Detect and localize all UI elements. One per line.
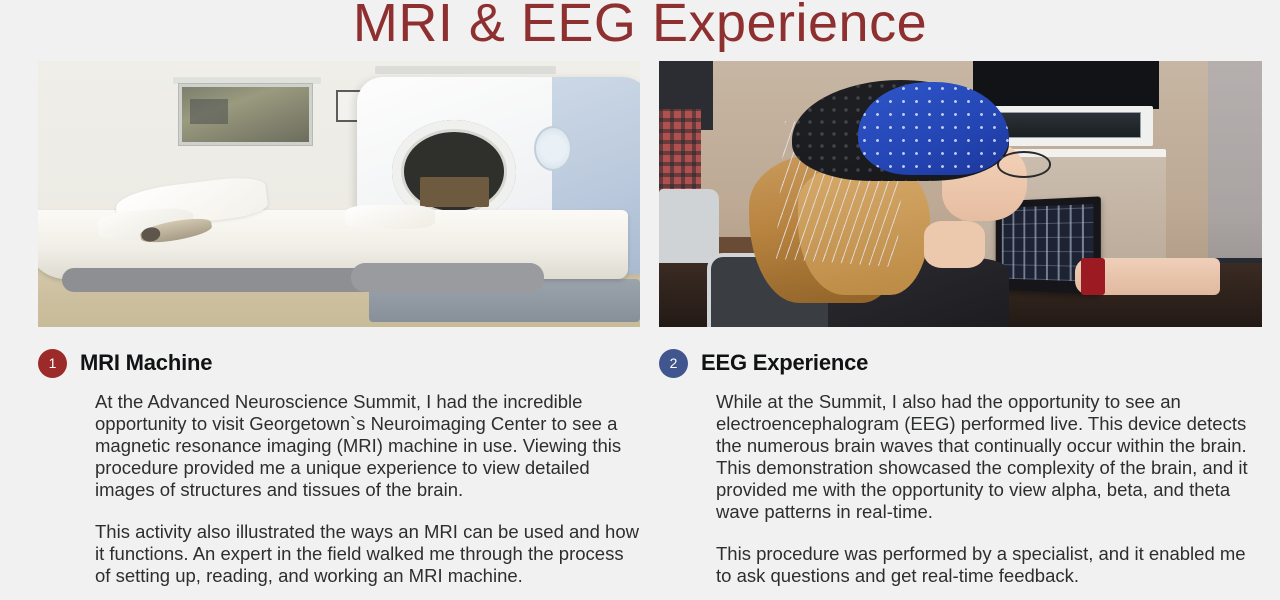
eeg-red-bracelet [1081, 258, 1105, 295]
eeg-participant-neck [924, 221, 984, 269]
slide-page: MRI & EEG Experience [0, 0, 1280, 600]
mri-paragraph-1: At the Advanced Neuroscience Summit, I h… [95, 391, 640, 501]
page-title: MRI & EEG Experience [0, 0, 1280, 54]
badge-number-2: 2 [659, 349, 688, 378]
mri-section-heading: MRI Machine [80, 348, 212, 378]
eeg-paragraph-1: While at the Summit, I also had the oppo… [716, 391, 1262, 523]
eeg-specialist-figure [1208, 61, 1262, 268]
mri-table-base-secondary [351, 263, 544, 292]
eeg-paragraph-2: This procedure was performed by a specia… [716, 543, 1262, 587]
mri-caption-block: 1 MRI Machine At the Advanced Neuroscien… [38, 348, 640, 587]
eeg-photo-column [659, 61, 1262, 327]
mri-heading-row: 1 MRI Machine [38, 348, 640, 378]
badge-number-1: 1 [38, 349, 67, 378]
mri-machine-photo [38, 61, 640, 327]
mri-observation-window [179, 84, 311, 145]
mri-window-sill [173, 77, 320, 84]
eeg-body-text: While at the Summit, I also had the oppo… [716, 391, 1262, 587]
mri-body-text: At the Advanced Neuroscience Summit, I h… [95, 391, 640, 587]
mri-photo-column [38, 61, 640, 327]
mri-pillow-far [345, 205, 435, 229]
eeg-window-shade [973, 61, 1160, 109]
eeg-caption-block: 2 EEG Experience While at the Summit, I … [659, 348, 1262, 587]
eeg-heading-row: 2 EEG Experience [659, 348, 1262, 378]
mri-ceiling-rail [375, 66, 556, 74]
eeg-background-person-shirt [659, 109, 701, 199]
eeg-window-glass [997, 112, 1142, 139]
mri-paragraph-2: This activity also illustrated the ways … [95, 521, 640, 587]
eeg-section-heading: EEG Experience [701, 348, 868, 378]
eeg-experience-photo [659, 61, 1262, 327]
